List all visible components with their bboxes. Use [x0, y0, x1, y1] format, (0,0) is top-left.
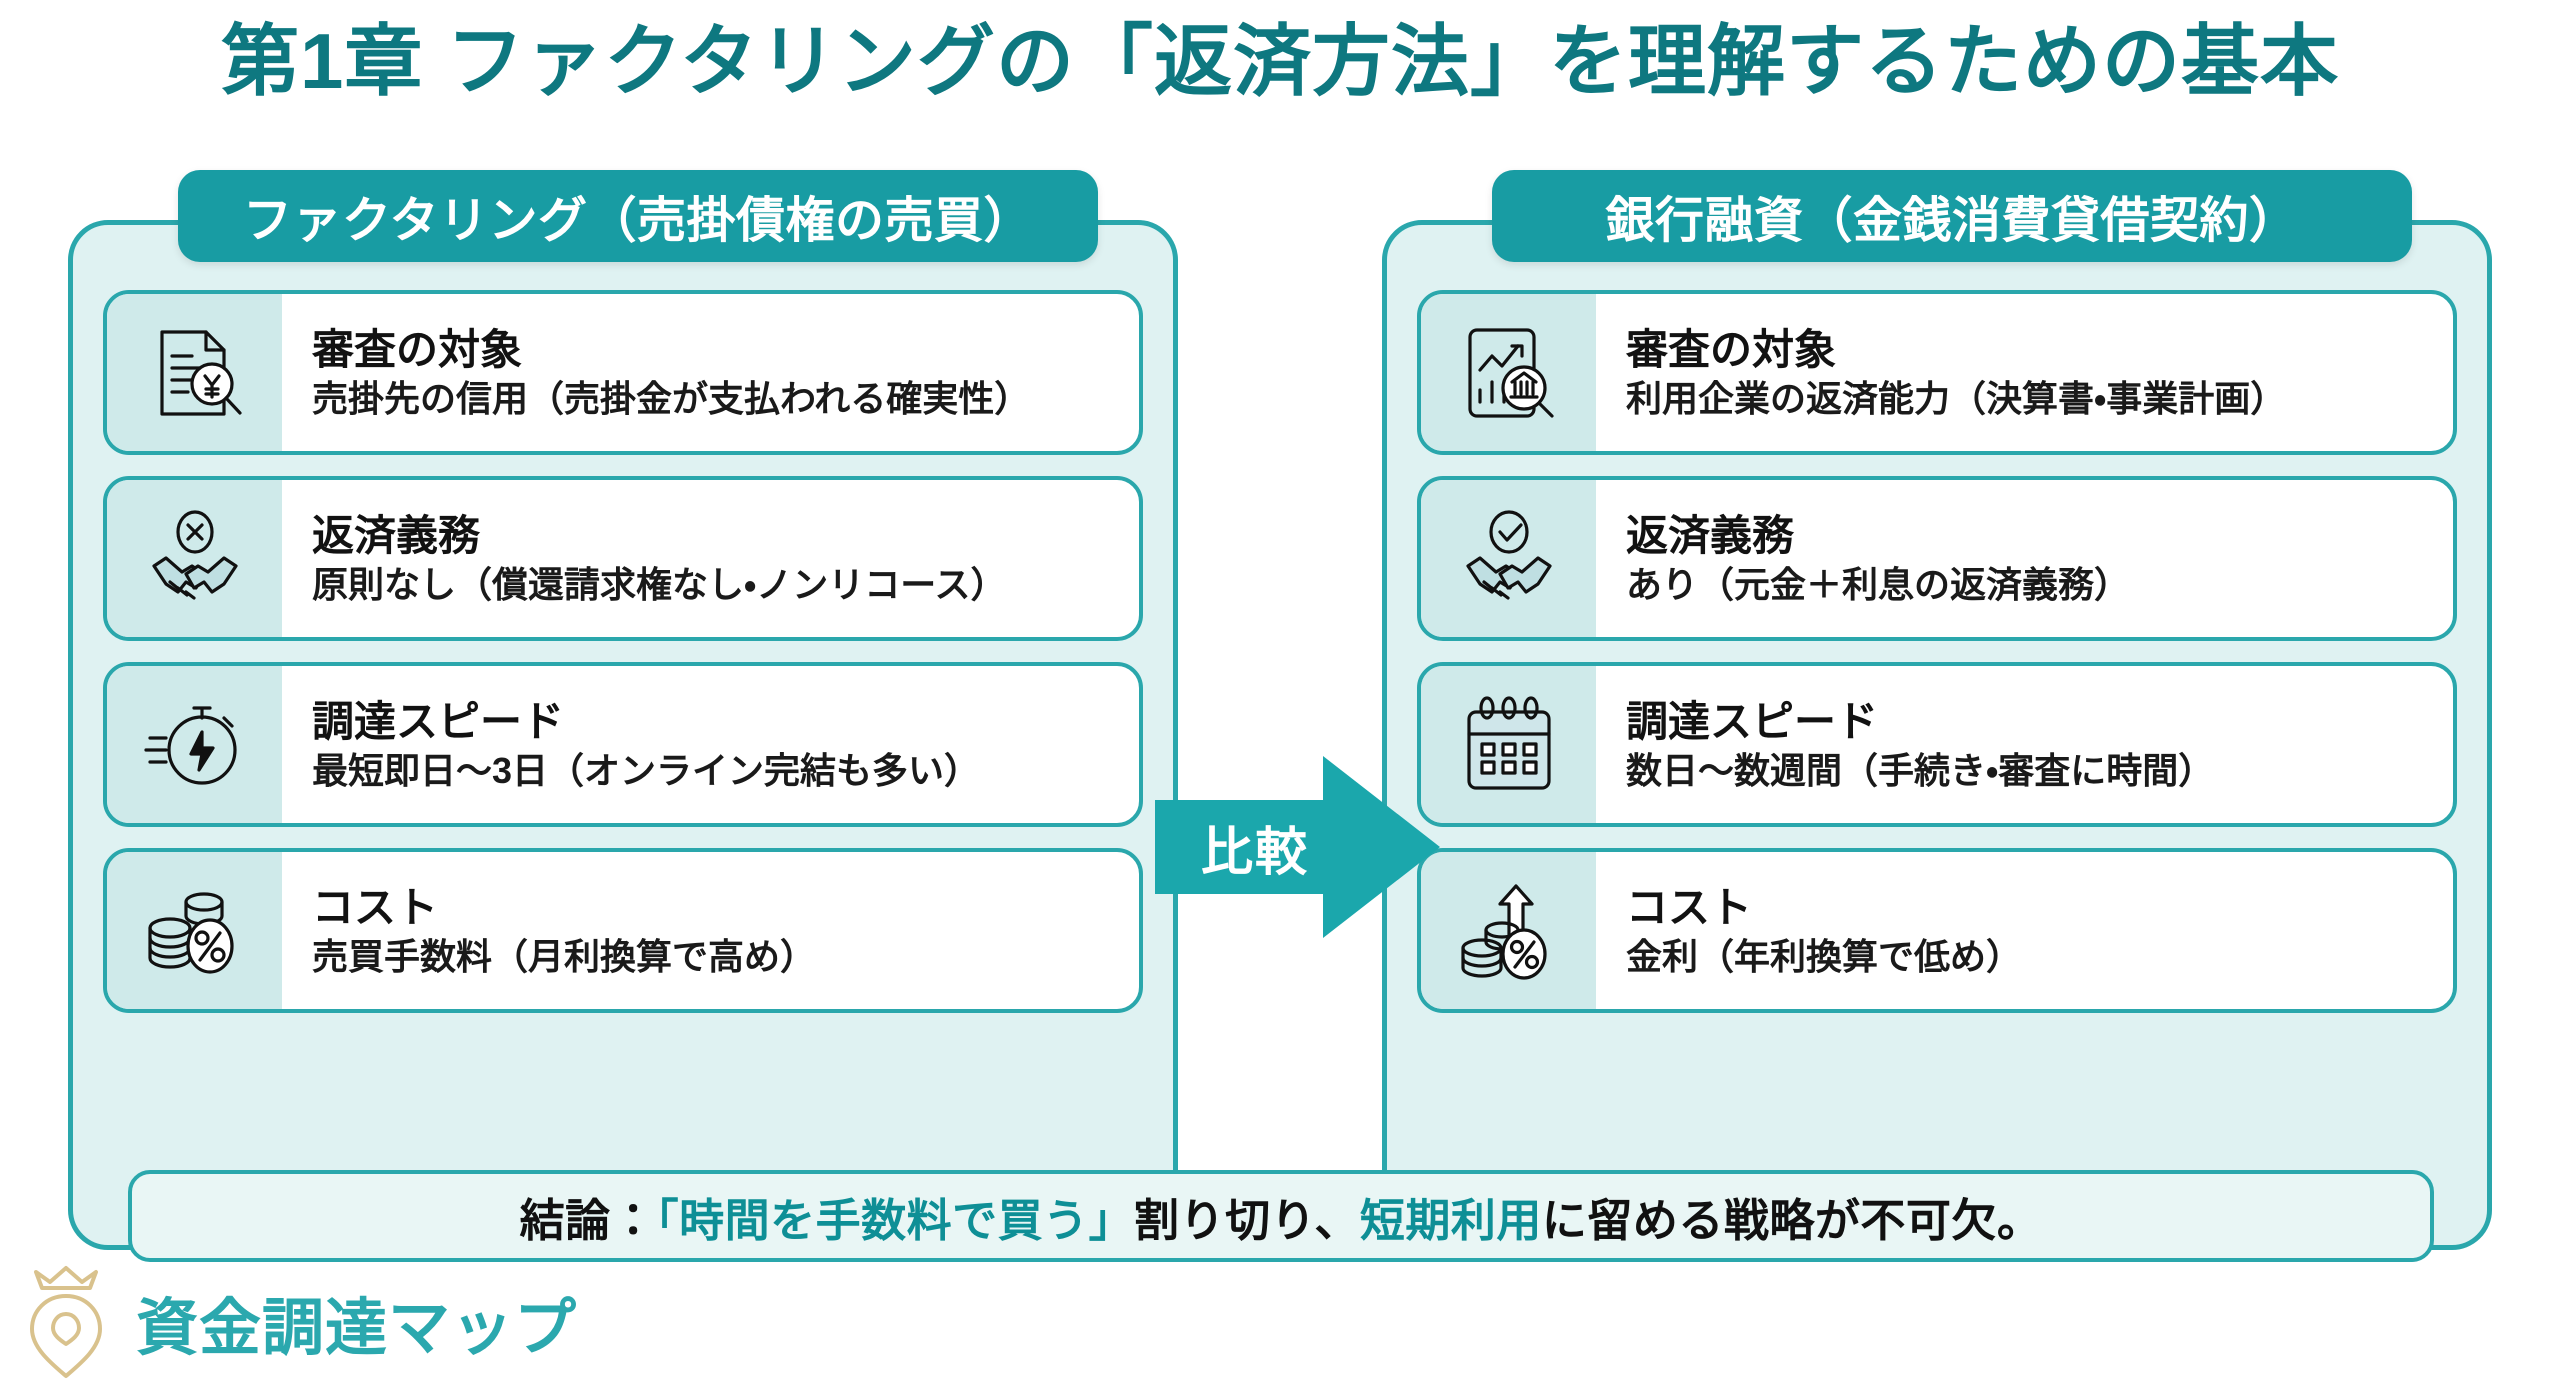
handshake-cross-icon — [107, 480, 282, 637]
conclusion-highlight-1: 「時間を手数料で買う」 — [656, 1195, 1134, 1246]
bank-loan-card-list: 審査の対象 利用企業の返済能力（決算書・事業計画） 返済義務 あり（元金＋利息の… — [1417, 290, 2457, 1013]
card-description: 数日～数週間（手続き・審査に時間） — [1626, 751, 2453, 791]
brand-logo-text: 資金調達マップ — [136, 1277, 577, 1367]
factoring-header-badge: ファクタリング（売掛債権の売買） — [178, 170, 1098, 262]
card-title: 調達スピード — [1626, 699, 2453, 745]
calendar-icon — [1421, 666, 1596, 823]
conclusion-bar: 結論：「時間を手数料で買う」割り切り、短期利用に留める戦略が不可欠。 — [128, 1170, 2434, 1262]
comparison-stage: ファクタリング（売掛債権の売買） 銀行融資（金銭消費貸借契約） 審査の対象 売掛… — [0, 170, 2560, 1280]
factoring-header-label: ファクタリング（売掛債権の売買） — [243, 181, 1033, 252]
document-yen-magnifier-icon — [107, 294, 282, 451]
card-text-block: 審査の対象 売掛先の信用（売掛金が支払われる確実性） — [282, 327, 1139, 419]
coins-percent-icon — [107, 852, 282, 1009]
card-title: 返済義務 — [1626, 513, 2453, 559]
card-description: 売買手数料（月利換算で高め） — [312, 937, 1139, 977]
card-description: 売掛先の信用（売掛金が支払われる確実性） — [312, 379, 1139, 419]
bank-loan-header-badge: 銀行融資（金銭消費貸借契約） — [1492, 170, 2412, 262]
card-description: あり（元金＋利息の返済義務） — [1626, 565, 2453, 605]
chart-bank-magnifier-icon — [1421, 294, 1596, 451]
card-text-block: 返済義務 あり（元金＋利息の返済義務） — [1596, 513, 2453, 605]
card-text-block: コスト 金利（年利換算で低め） — [1596, 885, 2453, 977]
stopwatch-bolt-icon — [107, 666, 282, 823]
card-description: 原則なし（償還請求権なし・ノンリコース） — [312, 565, 1139, 605]
card-text-block: 調達スピード 数日～数週間（手続き・審査に時間） — [1596, 699, 2453, 791]
comparison-arrow: 比較 — [1155, 742, 1440, 952]
card-text-block: 返済義務 原則なし（償還請求権なし・ノンリコース） — [282, 513, 1139, 605]
conclusion-highlight-2: 短期利用 — [1360, 1195, 1542, 1246]
card-bank-screening: 審査の対象 利用企業の返済能力（決算書・事業計画） — [1417, 290, 2457, 455]
conclusion-prefix: 結論： — [520, 1195, 657, 1246]
bank-loan-header-label: 銀行融資（金銭消費貸借契約） — [1605, 181, 2298, 252]
card-factoring-cost: コスト 売買手数料（月利換算で高め） — [103, 848, 1143, 1013]
card-description: 利用企業の返済能力（決算書・事業計画） — [1626, 379, 2453, 419]
coins-arrow-up-percent-icon — [1421, 852, 1596, 1009]
card-text-block: コスト 売買手数料（月利換算で高め） — [282, 885, 1139, 977]
card-title: コスト — [1626, 885, 2453, 931]
card-description: 最短即日～3日（オンライン完結も多い） — [312, 751, 1139, 791]
card-bank-speed: 調達スピード 数日～数週間（手続き・審査に時間） — [1417, 662, 2457, 827]
page-title: 第1章 ファクタリングの「返済方法」を理解するための基本 — [0, 18, 2560, 105]
factoring-card-list: 審査の対象 売掛先の信用（売掛金が支払われる確実性） 返済義務 原則なし（償還請… — [103, 290, 1143, 1013]
conclusion-middle: 割り切り、 — [1134, 1195, 1360, 1246]
handshake-check-icon — [1421, 480, 1596, 637]
card-description: 金利（年利換算で低め） — [1626, 937, 2453, 977]
card-title: コスト — [312, 885, 1139, 931]
comparison-arrow-label: 比較 — [1155, 810, 1355, 885]
card-text-block: 審査の対象 利用企業の返済能力（決算書・事業計画） — [1596, 327, 2453, 419]
card-factoring-repayment: 返済義務 原則なし（償還請求権なし・ノンリコース） — [103, 476, 1143, 641]
card-title: 審査の対象 — [312, 327, 1139, 373]
conclusion-text: 結論：「時間を手数料で買う」割り切り、短期利用に留める戦略が不可欠。 — [520, 1184, 2043, 1249]
card-text-block: 調達スピード 最短即日～3日（オンライン完結も多い） — [282, 699, 1139, 791]
conclusion-suffix: に留める戦略が不可欠。 — [1542, 1195, 2043, 1246]
card-bank-repayment: 返済義務 あり（元金＋利息の返済義務） — [1417, 476, 2457, 641]
card-bank-cost: コスト 金利（年利換算で低め） — [1417, 848, 2457, 1013]
card-title: 調達スピード — [312, 699, 1139, 745]
crown-map-pin-icon — [22, 1262, 118, 1382]
card-factoring-screening: 審査の対象 売掛先の信用（売掛金が支払われる確実性） — [103, 290, 1143, 455]
card-title: 返済義務 — [312, 513, 1139, 559]
brand-logo[interactable]: 資金調達マップ — [22, 1262, 577, 1382]
page-title-text: 第1章 ファクタリングの「返済方法」を理解するための基本 — [0, 18, 2560, 105]
card-title: 審査の対象 — [1626, 327, 2453, 373]
card-factoring-speed: 調達スピード 最短即日～3日（オンライン完結も多い） — [103, 662, 1143, 827]
